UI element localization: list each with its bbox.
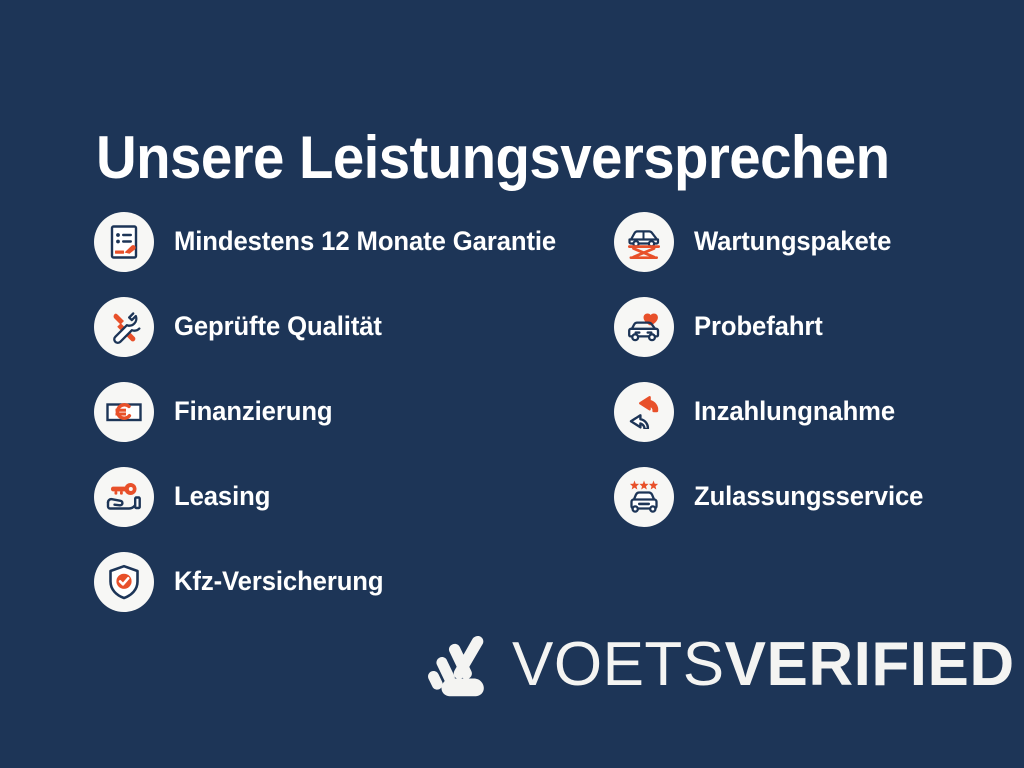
benefit-label: Geprüfte Qualität: [174, 311, 382, 342]
promo-poster: Unsere Leistungsversprechen Mindestens 1…: [0, 0, 1024, 768]
benefit-item-probefahrt: Probefahrt: [614, 284, 974, 369]
logo-word-voets: VOETS: [512, 630, 725, 699]
logo-wordmark: VOETSVERIFIED: [512, 634, 1015, 696]
benefit-item-qualitaet: Geprüfte Qualität: [94, 284, 614, 369]
certificate-document-icon: [94, 212, 154, 272]
benefit-item-inzahlungnahme: Inzahlungnahme: [614, 369, 974, 454]
wrench-screwdriver-icon: [94, 297, 154, 357]
benefit-item-kfz-versicherung: Kfz-Versicherung: [94, 539, 614, 624]
exchange-arrows-icon: [614, 382, 674, 442]
benefit-label: Inzahlungnahme: [694, 396, 895, 427]
benefit-label: Mindestens 12 Monate Garantie: [174, 226, 556, 257]
benefits-grid: Mindestens 12 Monate Garantie Wartungspa…: [94, 199, 974, 624]
car-heart-icon: [614, 297, 674, 357]
benefit-item-zulassungsservice: Zulassungsservice: [614, 454, 974, 539]
benefit-item-wartungspakete: Wartungspakete: [614, 199, 974, 284]
logo-word-verified: VERIFIED: [725, 630, 1015, 699]
benefit-label: Probefahrt: [694, 311, 823, 342]
benefit-label: Finanzierung: [174, 396, 332, 427]
car-stars-icon: [614, 467, 674, 527]
benefit-label: Leasing: [174, 481, 270, 512]
hand-key-icon: [94, 467, 154, 527]
benefit-label: Zulassungsservice: [694, 481, 923, 512]
benefit-label: Wartungspakete: [694, 226, 891, 257]
page-title: Unsere Leistungsversprechen: [96, 126, 904, 189]
benefit-label: Kfz-Versicherung: [174, 566, 383, 597]
car-lift-icon: [614, 212, 674, 272]
benefit-item-garantie: Mindestens 12 Monate Garantie: [94, 199, 614, 284]
shield-check-icon: [94, 552, 154, 612]
voets-verified-logo: VOETSVERIFIED: [428, 632, 1015, 698]
banknote-euro-icon: [94, 382, 154, 442]
benefit-item-finanzierung: Finanzierung: [94, 369, 614, 454]
voets-v-checkmark-icon: [428, 632, 490, 698]
benefit-item-leasing: Leasing: [94, 454, 614, 539]
